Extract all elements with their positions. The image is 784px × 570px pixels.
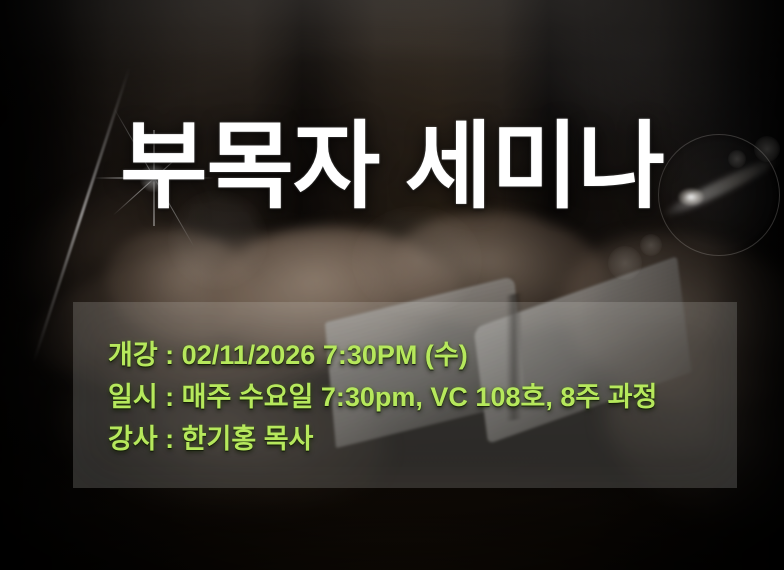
info-line-instructor: 강사 : 한기홍 목사 bbox=[108, 418, 748, 460]
poster-canvas: 부목자 세미나 개강 : 02/11/2026 7:30PM (수) 일시 : … bbox=[0, 0, 784, 570]
info-text-block: 개강 : 02/11/2026 7:30PM (수) 일시 : 매주 수요일 7… bbox=[108, 334, 748, 460]
info-line-start-date: 개강 : 02/11/2026 7:30PM (수) bbox=[108, 334, 748, 376]
lens-flare-ghost-2 bbox=[640, 234, 662, 256]
poster-title: 부목자 세미나 bbox=[0, 118, 784, 218]
flare-ghost-lower-center bbox=[352, 206, 482, 316]
lens-flare-ghost-1 bbox=[608, 246, 642, 280]
info-line-schedule: 일시 : 매주 수요일 7:30pm, VC 108호, 8주 과정 bbox=[108, 376, 748, 418]
